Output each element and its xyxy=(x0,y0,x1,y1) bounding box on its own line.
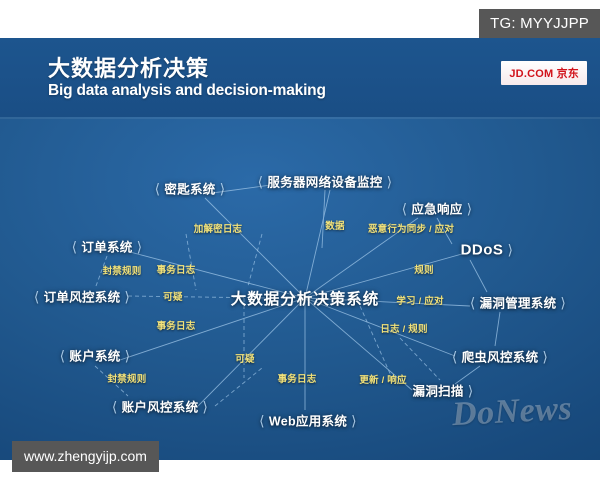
node-server-monitor[interactable]: ⟨服务器网络设备监控⟩ xyxy=(258,172,393,191)
node-label: 应急响应 xyxy=(411,203,462,217)
node-label: 漏洞管理系统 xyxy=(480,297,557,311)
presentation-slide: 大数据分析决策 Big data analysis and decision-m… xyxy=(0,38,600,460)
node-order-system[interactable]: ⟨订单系统⟩ xyxy=(72,237,143,256)
bracket-right-icon: ⟩ xyxy=(220,181,226,197)
node-center-label: 大数据分析决策系统 xyxy=(231,291,380,308)
edge-label-txn-log-mid: 事务日志 xyxy=(157,318,196,332)
bracket-left-icon: ⟨ xyxy=(34,289,40,305)
bracket-right-icon: ⟩ xyxy=(351,413,357,429)
bracket-right-icon: ⟩ xyxy=(202,399,208,415)
edge-label-data: 数据 xyxy=(325,218,344,232)
bracket-left-icon: ⟨ xyxy=(259,413,265,429)
screenshot-root: TG: MYYJJPP 大数据分析决策 Big data analysis an… xyxy=(0,0,600,480)
node-account-system[interactable]: ⟨账户系统⟩ xyxy=(60,346,131,365)
edge-label-ban-rule-order: 封禁规则 xyxy=(103,263,142,277)
bracket-right-icon: ⟩ xyxy=(387,174,393,190)
edge-label-encrypt-log: 加解密日志 xyxy=(194,221,243,235)
edge-label-update-respond: 更新 / 响应 xyxy=(359,372,406,386)
node-crawler-risk-control[interactable]: ⟨爬虫风控系统⟩ xyxy=(452,347,548,366)
bracket-right-icon: ⟩ xyxy=(467,201,473,217)
node-ddos[interactable]: DDoS⟩ xyxy=(461,242,514,259)
node-label: 密匙系统 xyxy=(164,183,215,197)
edge-label-ban-rule-account: 封禁规则 xyxy=(108,371,147,385)
edge-label-rule: 规则 xyxy=(414,262,433,276)
edge-label-log-rule: 日志 / 规则 xyxy=(380,321,427,335)
bracket-left-icon: ⟨ xyxy=(452,349,458,365)
bracket-left-icon: ⟨ xyxy=(112,399,118,415)
bracket-right-icon: ⟩ xyxy=(507,242,513,258)
node-web-application[interactable]: ⟨Web应用系统⟩ xyxy=(259,411,357,430)
bracket-right-icon: ⟩ xyxy=(560,295,566,311)
url-watermark-badge: www.zhengyijp.com xyxy=(12,441,159,472)
edge-label-learn-respond: 学习 / 应对 xyxy=(396,293,443,307)
bracket-left-icon: ⟨ xyxy=(402,201,408,217)
node-label: 爬虫风控系统 xyxy=(462,351,539,365)
tg-watermark-badge: TG: MYYJJPP xyxy=(479,9,600,39)
node-order-risk-control[interactable]: ⟨订单风控系统⟩ xyxy=(34,287,130,306)
node-label: 账户系统 xyxy=(69,350,120,364)
network-diagram: 大数据分析决策系统 ⟨服务器网络设备监控⟩ ⟨密匙系统⟩ ⟨订单系统⟩ ⟨订单风… xyxy=(0,38,600,460)
edge-label-suspicious-account: 可疑 xyxy=(235,351,254,365)
bracket-left-icon: ⟨ xyxy=(258,174,264,190)
bracket-left-icon: ⟨ xyxy=(470,295,476,311)
bracket-right-icon: ⟩ xyxy=(468,383,474,399)
bracket-left-icon: ⟨ xyxy=(60,348,66,364)
node-label: 账户风控系统 xyxy=(122,401,199,415)
node-center[interactable]: 大数据分析决策系统 xyxy=(231,287,380,309)
node-label: 订单系统 xyxy=(81,241,132,255)
bracket-right-icon: ⟩ xyxy=(124,289,130,305)
bracket-left-icon: ⟨ xyxy=(155,181,161,197)
node-label: DDoS xyxy=(461,242,504,259)
bracket-right-icon: ⟩ xyxy=(542,349,548,365)
bracket-left-icon: ⟨ xyxy=(72,239,78,255)
edge-label-txn-log-bottom: 事务日志 xyxy=(278,371,317,385)
node-label: 服务器网络设备监控 xyxy=(267,176,382,190)
node-label: Web应用系统 xyxy=(269,415,347,429)
edge-label-txn-log-top: 事务日志 xyxy=(157,262,196,276)
node-key-system[interactable]: ⟨密匙系统⟩ xyxy=(155,179,226,198)
node-vulnerability-scan[interactable]: 漏洞扫描⟩ xyxy=(413,381,474,400)
node-account-risk-control[interactable]: ⟨账户风控系统⟩ xyxy=(112,397,208,416)
edge-label-malicious-sync: 恶意行为同步 / 应对 xyxy=(368,221,454,235)
node-emergency-response[interactable]: ⟨应急响应⟩ xyxy=(402,199,473,218)
bracket-right-icon: ⟩ xyxy=(137,239,143,255)
node-label: 漏洞扫描 xyxy=(413,385,464,399)
node-vulnerability-management[interactable]: ⟨漏洞管理系统⟩ xyxy=(470,293,566,312)
node-label: 订单风控系统 xyxy=(44,291,121,305)
bracket-right-icon: ⟩ xyxy=(125,348,131,364)
edge-label-suspicious-order: 可疑 xyxy=(163,289,182,303)
